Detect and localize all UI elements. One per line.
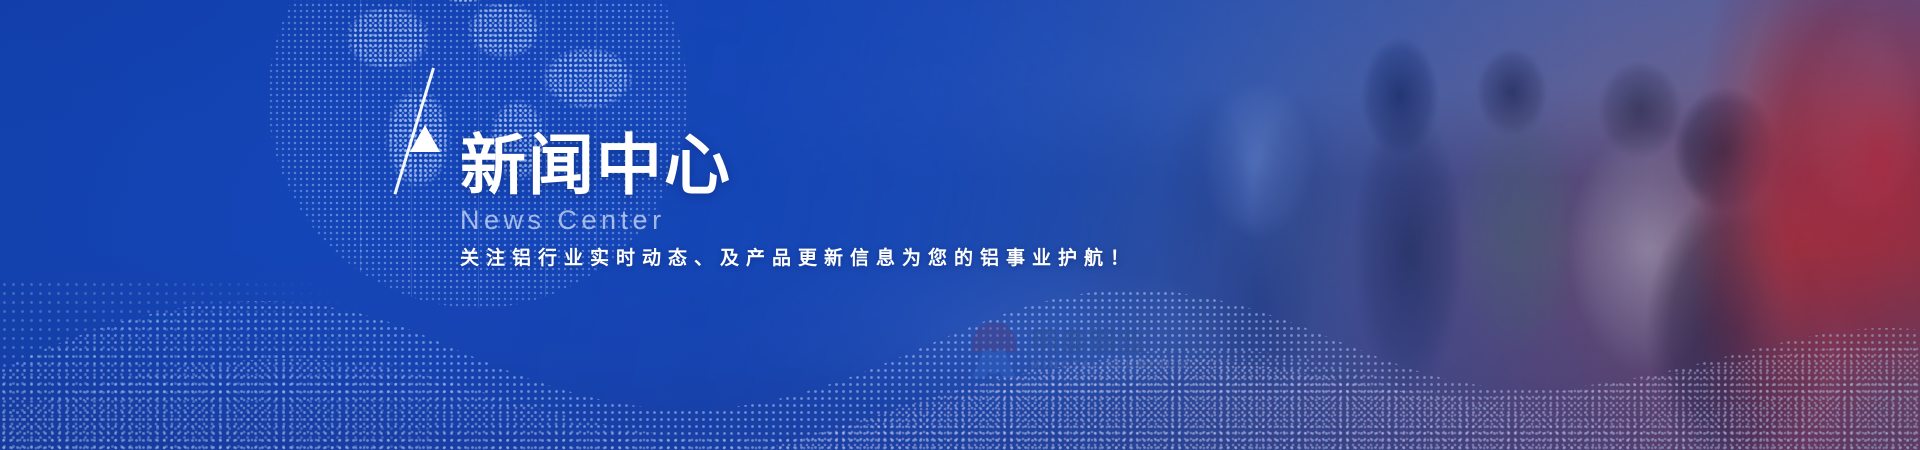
mingtai-name-en: MINGTAI ALUMINUM [1031, 357, 1190, 373]
halftone-dot-block [0, 280, 430, 450]
mingtai-logo-names: 明泰铝业 MINGTAI ALUMINUM [1031, 327, 1190, 373]
banner-text-block: 新闻中心 News Center 关注铝行业实时动态、及产品更新信息为您的铝事业… [398, 124, 1218, 272]
page-tagline: 关注铝行业实时动态、及产品更新信息为您的铝事业护航！ [460, 246, 1218, 272]
title-row: 新闻中心 [398, 124, 1218, 200]
triangle-up-icon [410, 125, 440, 152]
mingtai-logo-mark [968, 322, 1020, 378]
mingtai-aluminum-logo: 明泰铝业 MINGTAI ALUMINUM [968, 322, 1190, 378]
news-center-banner: 明泰铝业 MINGTAI ALUMINUM 新闻中心 News Center 关… [0, 0, 1920, 450]
diagonal-slash-icon [398, 72, 454, 200]
page-subtitle-en: News Center [460, 204, 1218, 236]
page-title: 新闻中心 [460, 130, 732, 200]
mingtai-name-cn: 明泰铝业 [1031, 327, 1190, 357]
